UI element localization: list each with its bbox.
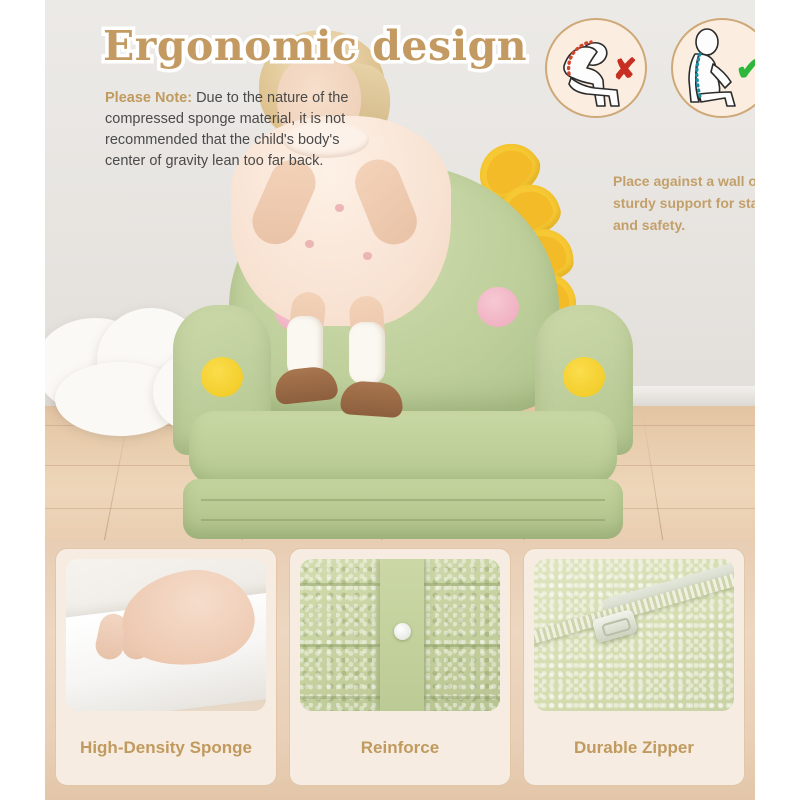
product-infographic-page: Ergonomic design Please Note: Due to the… xyxy=(0,0,800,800)
zipper-teeth xyxy=(534,571,734,645)
page-title: Ergonomic design xyxy=(103,22,527,70)
check-mark-icon: ✔ xyxy=(735,52,755,85)
feature-card-caption: Reinforce xyxy=(290,711,510,785)
feature-card-reinforce: Reinforce xyxy=(289,548,511,786)
hero-photo: Ergonomic design Please Note: Due to the… xyxy=(45,0,755,548)
armrest-dot-right xyxy=(563,357,605,397)
feature-card-zipper: Durable Zipper xyxy=(523,548,745,786)
feature-card-caption: High-Density Sponge xyxy=(56,711,276,785)
sock-right xyxy=(349,322,385,384)
reinforce-photo xyxy=(300,559,500,711)
snap-button xyxy=(394,623,411,640)
stability-note: Place against a wall or sturdy support f… xyxy=(613,170,755,236)
sofa-seat xyxy=(189,411,617,485)
cross-mark-icon: ✘ xyxy=(613,56,637,85)
bad-posture-badge: ✘ xyxy=(545,18,647,118)
sofa-folded-base xyxy=(183,479,623,539)
shoe-left xyxy=(273,365,338,405)
please-note-label: Please Note: xyxy=(105,90,192,106)
zipper-photo xyxy=(534,559,734,711)
child-model xyxy=(231,30,451,380)
sponge-photo xyxy=(66,559,266,711)
feature-cards-strip: High-Density Sponge Reinforce Durable Zi… xyxy=(45,540,755,800)
feature-card-caption: Durable Zipper xyxy=(524,711,744,785)
please-note-text: Please Note: Due to the nature of the co… xyxy=(105,88,375,172)
feature-card-sponge: High-Density Sponge xyxy=(55,548,277,786)
